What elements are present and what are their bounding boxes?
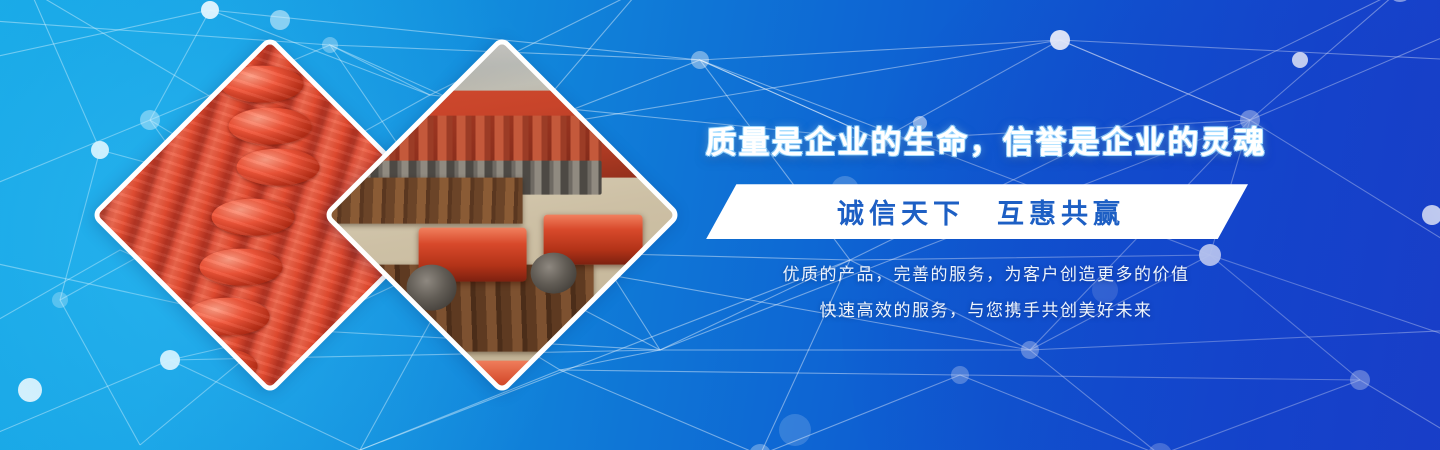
slogan-ribbon-text: 诚信天下 互惠共赢: [837, 192, 1125, 231]
slogan-ribbon-container: 诚信天下 互惠共赢: [696, 184, 1276, 239]
diamond-2-frame: [329, 42, 674, 387]
banner-text-column: 质量是企业的生命，信誉是企业的灵魂 诚信天下 互惠共赢 优质的产品，完善的服务，…: [696, 124, 1276, 319]
red-flanged-shafts-on-pallets-image: [329, 42, 674, 387]
banner-subline-1: 优质的产品，完善的服务，为客户创造更多的价值: [696, 266, 1276, 283]
product-photo-diamond-2[interactable]: [322, 35, 681, 394]
banner-headline: 质量是企业的生命，信誉是企业的灵魂: [696, 124, 1276, 161]
slogan-ribbon: 诚信天下 互惠共赢: [706, 184, 1248, 239]
banner-subline-2: 快速高效的服务，与您携手共创美好未来: [696, 302, 1276, 319]
promotional-banner: 质量是企业的生命，信誉是企业的灵魂 诚信天下 互惠共赢 优质的产品，完善的服务，…: [0, 0, 1440, 450]
